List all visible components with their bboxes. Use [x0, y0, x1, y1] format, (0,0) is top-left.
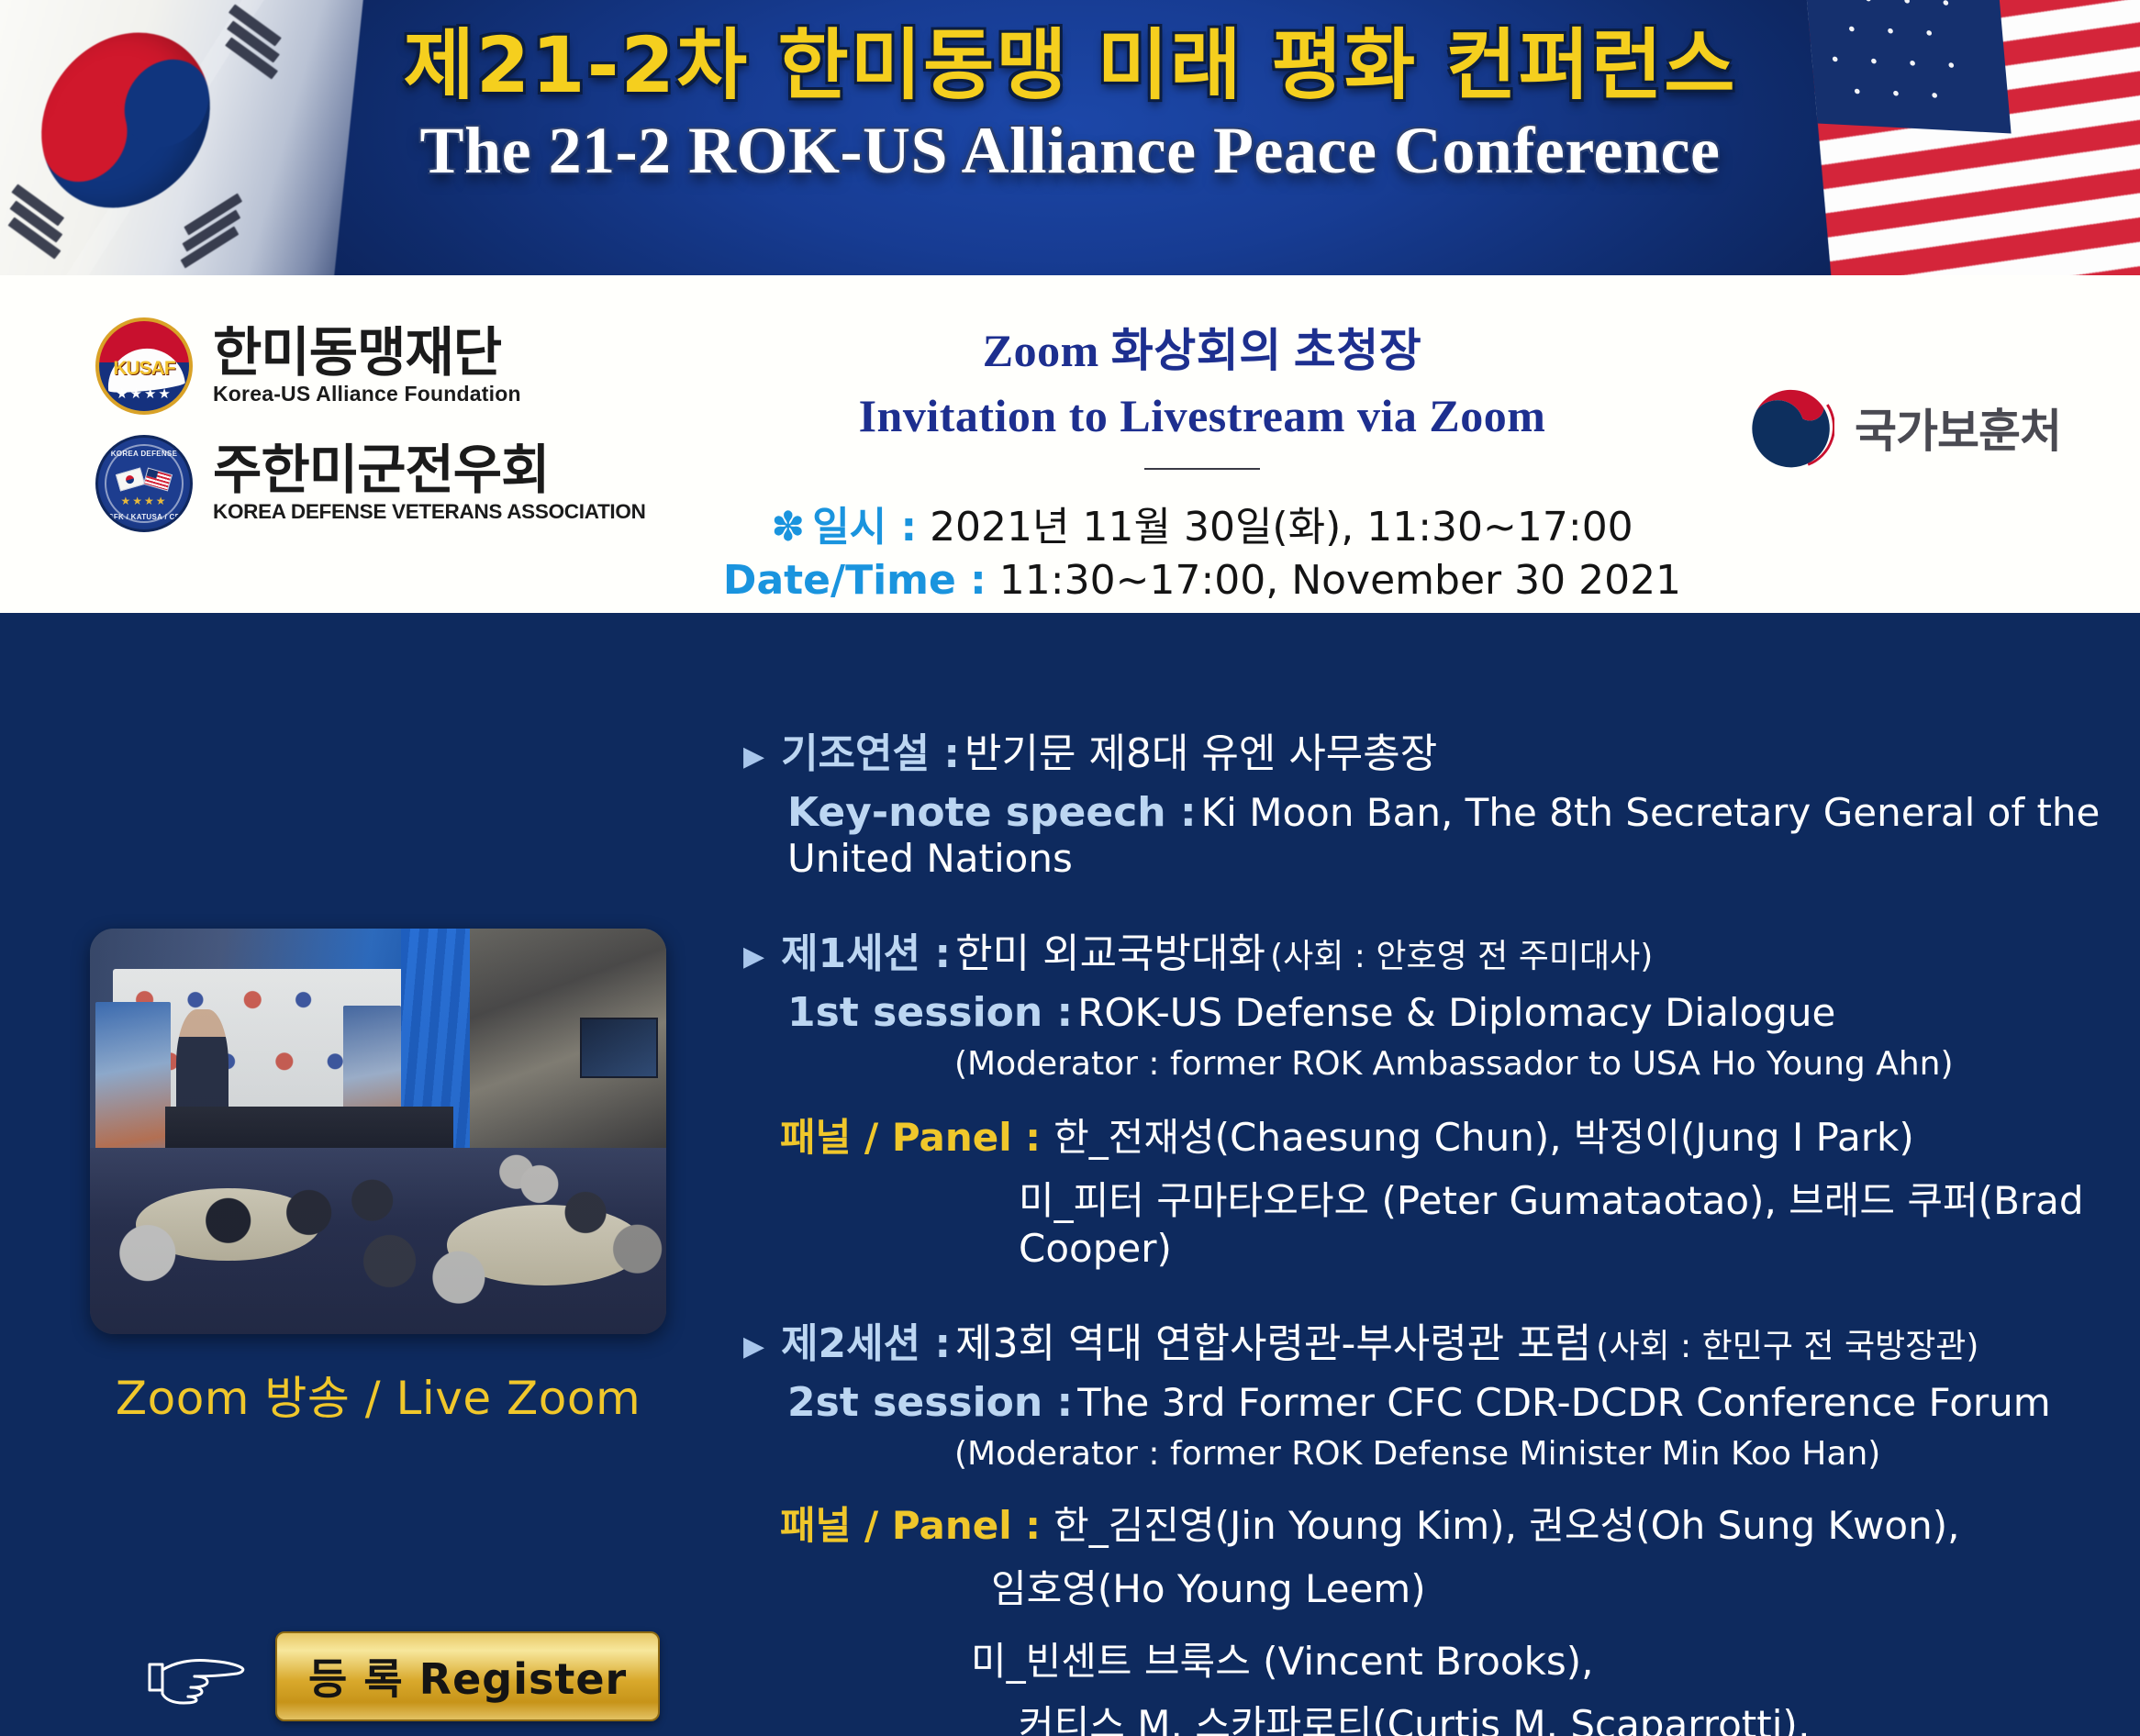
session2-panel-korean-2-row: 임호영(Ho Young Leem): [743, 1558, 2120, 1614]
invitation-heading-korean: Zoom 화상회의 초청장: [697, 314, 1707, 380]
session2-panel-korean-2: 임호영(Ho Young Leem): [991, 1566, 1426, 1611]
session1-moderator-english: (Moderator : former ROK Ambassador to US…: [954, 1045, 1954, 1083]
session2-value-korean: 제3회 역대 연합사령관-부사령관 포럼: [955, 1320, 1591, 1367]
session1-moderator-korean: (사회 : 안호영 전 주미대사): [1270, 938, 1653, 975]
session1-panel-us-row: 미_피터 구마타오타오 (Peter Gumataotao), 브래드 쿠퍼(B…: [743, 1170, 2120, 1271]
session2-moderator-korean: (사회 : 한민구 전 국방장관): [1596, 1328, 1978, 1365]
photo-caption: Zoom 방송 / Live Zoom: [90, 1362, 666, 1428]
date-value-english: 11:30~17:00, November 30 2021: [999, 557, 1681, 604]
triangle-bullet-icon: ▶: [743, 1333, 764, 1361]
page-title-english: The 21-2 ROK-US Alliance Peace Conferenc…: [0, 113, 2140, 189]
session2-panel-us-1: 미_빈센트 브룩스 (Vincent Brooks),: [971, 1639, 1594, 1684]
session1-korean-row: ▶ 제1세션 : 한미 외교국방대화 (사회 : 안호영 전 주미대사): [743, 930, 2120, 978]
session1-panel-row: 패널 / Panel : 한_전재성(Chaesung Chun), 박정이(J…: [743, 1107, 2120, 1163]
kdva-stars-icon: ★★★★: [98, 495, 190, 507]
program-list: ▶ 기조연설 : 반기문 제8대 유엔 사무총장 Key-note speech…: [743, 730, 2120, 1736]
session2-panel-korean-1: 한_김진영(Jin Young Kim), 권오성(Oh Sung Kwon),: [1053, 1495, 1959, 1551]
poster-body: Zoom 방송 / Live Zoom 등 록 Register ▶: [0, 613, 2140, 1736]
program-session-1: ▶ 제1세션 : 한미 외교국방대화 (사회 : 안호영 전 주미대사) 1st…: [743, 930, 2120, 1271]
session2-panel-us-1-row: 미_빈센트 브룩스 (Vincent Brooks),: [743, 1630, 2120, 1686]
kusaf-emblem-icon: KUSAF ★★★★: [95, 317, 193, 415]
poster-header: 제21-2차 한미동맹 미래 평화 컨퍼런스 The 21-2 ROK-US A…: [0, 0, 2140, 275]
conference-photo: [90, 929, 666, 1334]
asterisk-icon: ✽: [771, 504, 805, 551]
kdva-name-korean: 주한미군전우회: [213, 443, 646, 497]
conference-invitation-poster: 제21-2차 한미동맹 미래 평화 컨퍼런스 The 21-2 ROK-US A…: [0, 0, 2140, 1736]
organizer-kusaf: KUSAF ★★★★ 한미동맹재단 Korea-US Alliance Foun…: [95, 317, 664, 415]
program-keynote: ▶ 기조연설 : 반기문 제8대 유엔 사무총장 Key-note speech…: [743, 730, 2120, 881]
triangle-bullet-icon: ▶: [743, 943, 764, 971]
date-label-korean: 일시 :: [812, 504, 917, 551]
keynote-english-row: Key-note speech : Ki Moon Ban, The 8th S…: [743, 789, 2120, 881]
session1-panel-label: 패널 / Panel :: [780, 1107, 1041, 1163]
live-zoom-block: Zoom 방송 / Live Zoom: [90, 929, 666, 1428]
kdva-arc-bottom-text: USFK / KATUSA / CFC: [98, 513, 190, 521]
invitation-block: Zoom 화상회의 초청장 Invitation to Livestream v…: [697, 314, 1707, 607]
organizer-band: KUSAF ★★★★ 한미동맹재단 Korea-US Alliance Foun…: [0, 275, 2140, 613]
session2-label-english: 2st session :: [787, 1379, 1073, 1426]
session1-label-english: 1st session :: [787, 989, 1073, 1036]
invitation-heading-english: Invitation to Livestream via Zoom: [697, 389, 1707, 442]
date-label-english: Date/Time :: [723, 557, 986, 604]
session1-english-row: 1st session : ROK-US Defense & Diplomacy…: [743, 989, 2120, 1036]
session2-panel-label: 패널 / Panel :: [780, 1495, 1041, 1551]
session2-value-english: The 3rd Former CFC CDR-DCDR Conference F…: [1077, 1380, 2051, 1425]
session1-moderator-english-row: (Moderator : former ROK Ambassador to US…: [743, 1045, 2120, 1083]
datetime-korean-line: ✽일시 : 2021년 11월 30일(화), 11:30~17:00: [697, 501, 1707, 554]
session1-value-english: ROK-US Defense & Diplomacy Dialogue: [1077, 990, 1835, 1035]
kdva-emblem-icon: KOREA DEFENSE ★★★★ USFK / KATUSA / CFC: [95, 435, 193, 532]
keynote-value-korean: 반기문 제8대 유엔 사무총장: [964, 730, 1437, 777]
kdva-crossed-flags-icon: [117, 471, 171, 488]
page-title-korean: 제21-2차 한미동맹 미래 평화 컨퍼런스: [0, 24, 2140, 107]
session2-panel-us-2-row: 커티스 M. 스카파로티(Curtis M. Scaparrotti),: [743, 1694, 2120, 1736]
program-session-2: ▶ 제2세션 : 제3회 역대 연합사령관-부사령관 포럼 (사회 : 한민구 …: [743, 1320, 2120, 1736]
organizer-logos: KUSAF ★★★★ 한미동맹재단 Korea-US Alliance Foun…: [95, 317, 664, 552]
datetime-block: ✽일시 : 2021년 11월 30일(화), 11:30~17:00 Date…: [697, 501, 1707, 607]
header-title-group: 제21-2차 한미동맹 미래 평화 컨퍼런스 The 21-2 ROK-US A…: [0, 24, 2140, 189]
keynote-label-korean: 기조연설 :: [781, 730, 960, 777]
session2-korean-row: ▶ 제2세션 : 제3회 역대 연합사령관-부사령관 포럼 (사회 : 한민구 …: [743, 1320, 2120, 1368]
pointing-hand-icon: [147, 1648, 248, 1705]
session1-panel-korean: 한_전재성(Chaesung Chun), 박정이(Jung I Park): [1053, 1107, 1914, 1163]
session1-label-korean: 제1세션 :: [781, 930, 951, 977]
government-name: 국가보훈처: [1855, 395, 2061, 461]
register-row[interactable]: 등 록 Register: [147, 1631, 660, 1721]
session2-moderator-english: (Moderator : former ROK Defense Minister…: [954, 1435, 1880, 1473]
kusaf-badge-text: KUSAF: [99, 358, 189, 380]
kusaf-name-english: Korea-US Alliance Foundation: [213, 382, 521, 406]
session1-value-korean: 한미 외교국방대화: [955, 930, 1265, 977]
keynote-korean-row: ▶ 기조연설 : 반기문 제8대 유엔 사무총장: [743, 730, 2120, 778]
kusaf-stars-icon: ★★★★: [99, 385, 189, 402]
date-value-korean: 2021년 11월 30일(화), 11:30~17:00: [930, 504, 1633, 551]
kdva-arc-top-text: KOREA DEFENSE: [98, 450, 190, 458]
session2-label-korean: 제2세션 :: [781, 1320, 951, 1367]
organizer-kdva: KOREA DEFENSE ★★★★ USFK / KATUSA / CFC 주…: [95, 435, 664, 532]
government-logo: 국가보훈처: [1746, 384, 2061, 472]
session1-panel-us: 미_피터 구마타오타오 (Peter Gumataotao), 브래드 쿠퍼(B…: [1019, 1178, 2084, 1271]
keynote-label-english: Key-note speech :: [787, 789, 1197, 836]
session2-panel-us-2: 커티스 M. 스카파로티(Curtis M. Scaparrotti),: [1019, 1702, 1810, 1736]
triangle-bullet-icon: ▶: [743, 743, 764, 771]
kdva-name-english: KOREA DEFENSE VETERANS ASSOCIATION: [213, 500, 646, 524]
register-button[interactable]: 등 록 Register: [275, 1631, 660, 1721]
session2-panel-row: 패널 / Panel : 한_김진영(Jin Young Kim), 권오성(O…: [743, 1495, 2120, 1551]
session2-moderator-english-row: (Moderator : former ROK Defense Minister…: [743, 1435, 2120, 1473]
kusaf-name-korean: 한미동맹재단: [213, 326, 521, 380]
taegeuk-emblem-icon: [1746, 384, 1834, 472]
datetime-english-line: Date/Time : 11:30~17:00, November 30 202…: [697, 554, 1707, 607]
session2-english-row: 2st session : The 3rd Former CFC CDR-DCD…: [743, 1379, 2120, 1426]
divider: [1144, 468, 1260, 470]
